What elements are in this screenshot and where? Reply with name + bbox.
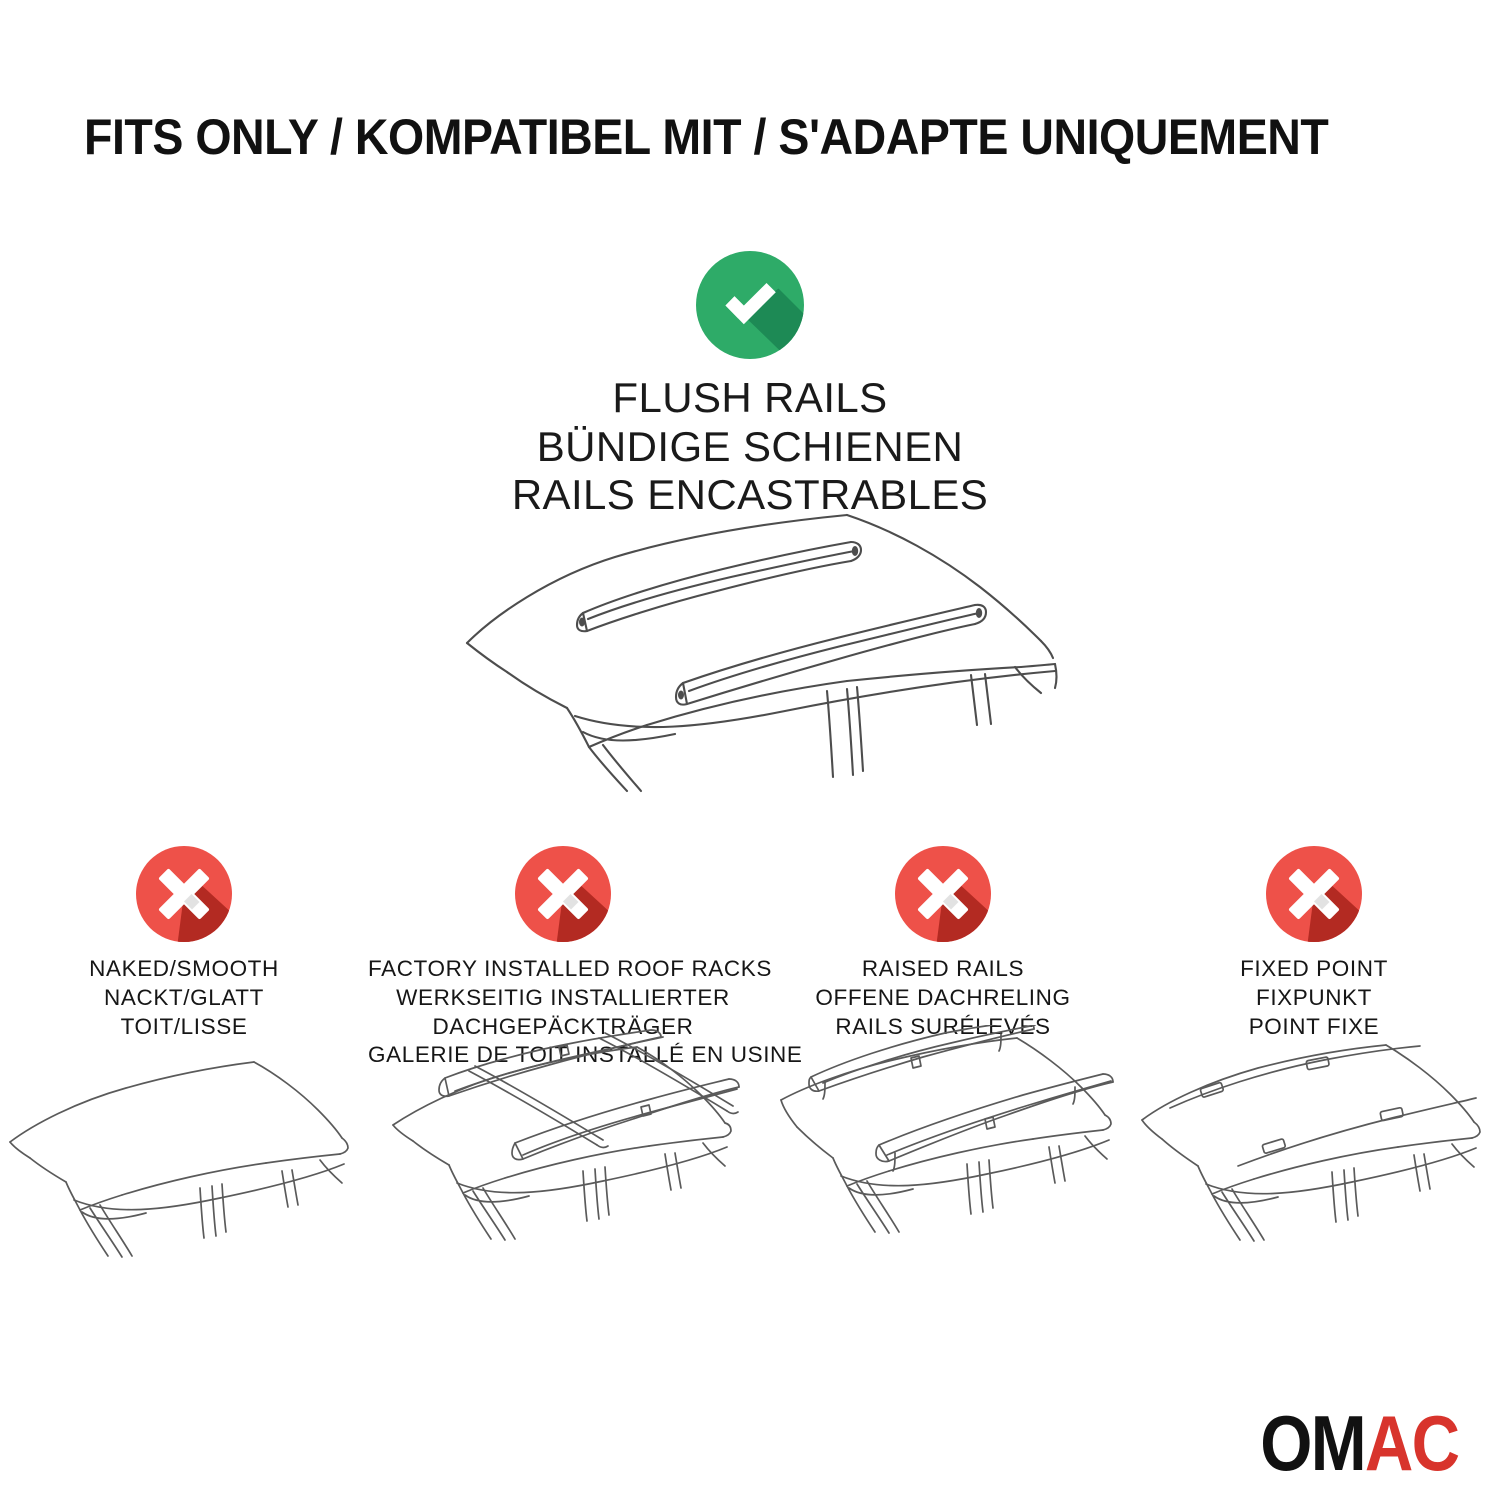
car-roof-bare-illustration — [4, 1050, 364, 1280]
compatible-label-line-2: BÜNDIGE SCHIENEN — [0, 423, 1500, 472]
incompatible-label-fixed-point: FIXED POINT FIXPUNKT POINT FIXE — [1128, 955, 1500, 1041]
compatible-section: FLUSH RAILS BÜNDIGE SCHIENEN RAILS ENCAS… — [0, 250, 1500, 520]
compatible-label-line-1: FLUSH RAILS — [0, 374, 1500, 423]
page-title: FITS ONLY / KOMPATIBEL MIT / S'ADAPTE UN… — [84, 108, 1330, 166]
car-roof-with-raised-rails-illustration — [763, 1025, 1123, 1255]
label-line: FIXPUNKT — [1128, 984, 1500, 1013]
incompatible-item-raised-rails: RAISED RAILS OFFENE DACHRELING RAILS SUR… — [758, 845, 1128, 1070]
logo-text-red: AC — [1365, 1399, 1458, 1487]
car-roof-with-flush-rails-illustration — [455, 495, 1075, 795]
label-line: FIXED POINT — [1128, 955, 1500, 984]
incompatible-label-naked-smooth: NAKED/SMOOTH NACKT/GLATT TOIT/LISSE — [0, 955, 368, 1041]
x-circle-icon — [894, 845, 992, 943]
incompatible-item-fixed-point: FIXED POINT FIXPUNKT POINT FIXE — [1128, 845, 1500, 1070]
x-circle-icon — [135, 845, 233, 943]
label-line: FACTORY INSTALLED ROOF RACKS — [368, 955, 758, 984]
label-line: POINT FIXE — [1128, 1013, 1500, 1042]
label-line: RAISED RAILS — [758, 955, 1128, 984]
label-line: NAKED/SMOOTH — [0, 955, 368, 984]
x-circle-icon — [514, 845, 612, 943]
label-line: TOIT/LISSE — [0, 1013, 368, 1042]
label-line: NACKT/GLATT — [0, 984, 368, 1013]
x-circle-icon — [1265, 845, 1363, 943]
check-circle-icon — [695, 250, 805, 360]
logo-text-dark: OM — [1260, 1399, 1365, 1487]
label-line: OFFENE DACHRELING — [758, 984, 1128, 1013]
incompatible-item-factory-roof-racks: FACTORY INSTALLED ROOF RACKS WERKSEITIG … — [368, 845, 758, 1070]
label-line: WERKSEITIG INSTALLIERTER — [368, 984, 758, 1013]
omac-logo: OMAC — [1260, 1404, 1458, 1482]
car-roof-with-crossbars-illustration — [383, 1025, 743, 1255]
incompatible-section: NAKED/SMOOTH NACKT/GLATT TOIT/LISSE — [0, 845, 1500, 1070]
car-roof-with-fixed-points-illustration — [1134, 1040, 1494, 1270]
incompatible-item-naked-smooth: NAKED/SMOOTH NACKT/GLATT TOIT/LISSE — [0, 845, 368, 1070]
